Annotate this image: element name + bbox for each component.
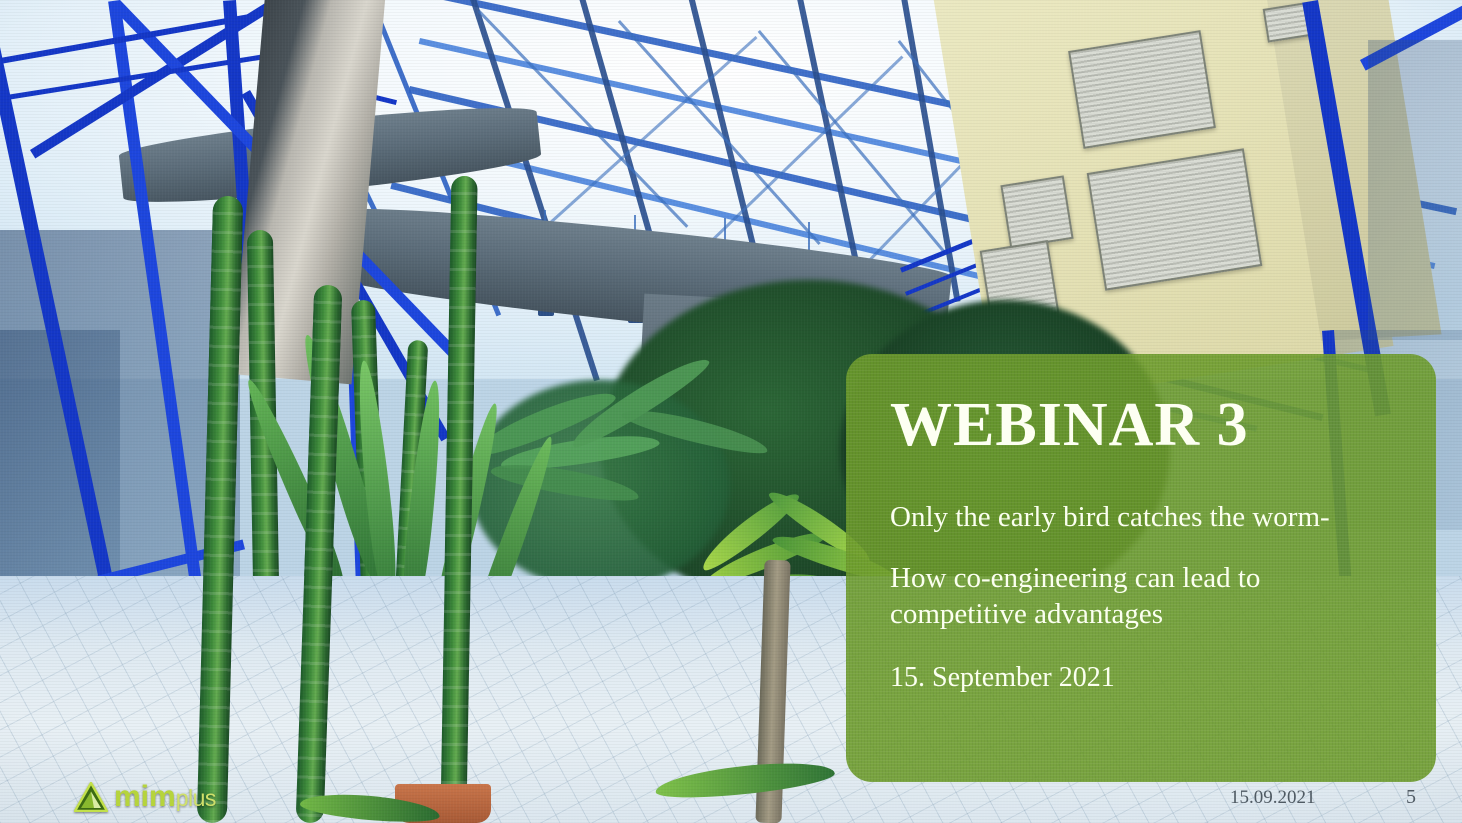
subtitle-line-1: Only the early bird catches the worm- [890,500,1392,535]
logo-wordmark: mimplus [114,782,216,812]
window-shutter-3 [1000,175,1073,248]
page-title: WEBINAR 3 [890,394,1392,456]
logo-name-bold: mim [114,780,176,813]
presentation-slide: WEBINAR 3 Only the early bird catches th… [0,0,1462,823]
title-panel: WEBINAR 3 Only the early bird catches th… [846,354,1436,782]
triangle-icon [74,782,108,812]
window-shutter-1 [1068,30,1216,149]
subtitle-line-3: competitive advantages [890,597,1392,632]
subtitle-line-2: How co-engineering can lead to [890,561,1392,596]
page-number: 5 [1406,786,1416,809]
window-shutter-2 [1087,148,1263,290]
footer-date: 15.09.2021 [1230,787,1316,809]
logo-name-light: plus [176,785,216,811]
mimplus-logo[interactable]: mimplus [74,782,216,812]
event-date: 15. September 2021 [890,662,1392,694]
